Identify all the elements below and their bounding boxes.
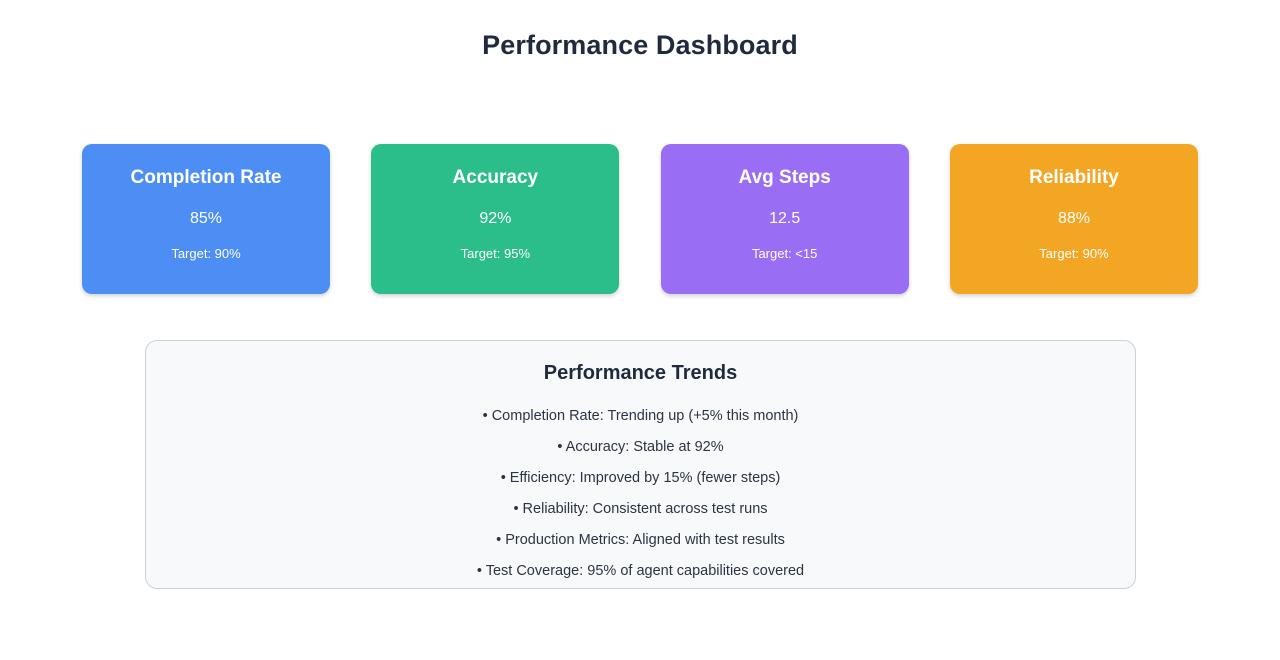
metric-card-target: Target: <15	[752, 246, 817, 262]
list-item: • Reliability: Consistent across test ru…	[146, 494, 1135, 525]
metric-card-reliability[interactable]: Reliability 88% Target: 90%	[950, 144, 1198, 294]
list-item: • Completion Rate: Trending up (+5% this…	[146, 401, 1135, 432]
metric-card-completion-rate[interactable]: Completion Rate 85% Target: 90%	[82, 144, 330, 294]
metric-card-value: 85%	[190, 209, 222, 228]
page-title: Performance Dashboard	[0, 30, 1280, 61]
metric-card-target: Target: 90%	[1039, 246, 1108, 262]
metric-card-accuracy[interactable]: Accuracy 92% Target: 95%	[371, 144, 619, 294]
metric-card-target: Target: 95%	[461, 246, 530, 262]
metric-cards-row: Completion Rate 85% Target: 90% Accuracy…	[82, 144, 1198, 294]
metric-card-title: Avg Steps	[739, 166, 831, 189]
metric-card-target: Target: 90%	[171, 246, 240, 262]
list-item: • Production Metrics: Aligned with test …	[146, 525, 1135, 556]
metric-card-title: Accuracy	[453, 166, 539, 189]
metric-card-title: Completion Rate	[131, 166, 282, 189]
metric-card-value: 92%	[479, 209, 511, 228]
metric-card-avg-steps[interactable]: Avg Steps 12.5 Target: <15	[661, 144, 909, 294]
list-item: • Efficiency: Improved by 15% (fewer ste…	[146, 463, 1135, 494]
list-item: • Test Coverage: 95% of agent capabiliti…	[146, 556, 1135, 587]
trends-list: • Completion Rate: Trending up (+5% this…	[146, 401, 1135, 587]
performance-trends-panel: Performance Trends • Completion Rate: Tr…	[145, 340, 1136, 589]
dashboard-page: Performance Dashboard Completion Rate 85…	[0, 0, 1280, 660]
metric-card-value: 88%	[1058, 209, 1090, 228]
trends-panel-title: Performance Trends	[146, 361, 1135, 385]
list-item: • Accuracy: Stable at 92%	[146, 432, 1135, 463]
metric-card-title: Reliability	[1029, 166, 1119, 189]
metric-card-value: 12.5	[769, 209, 800, 228]
